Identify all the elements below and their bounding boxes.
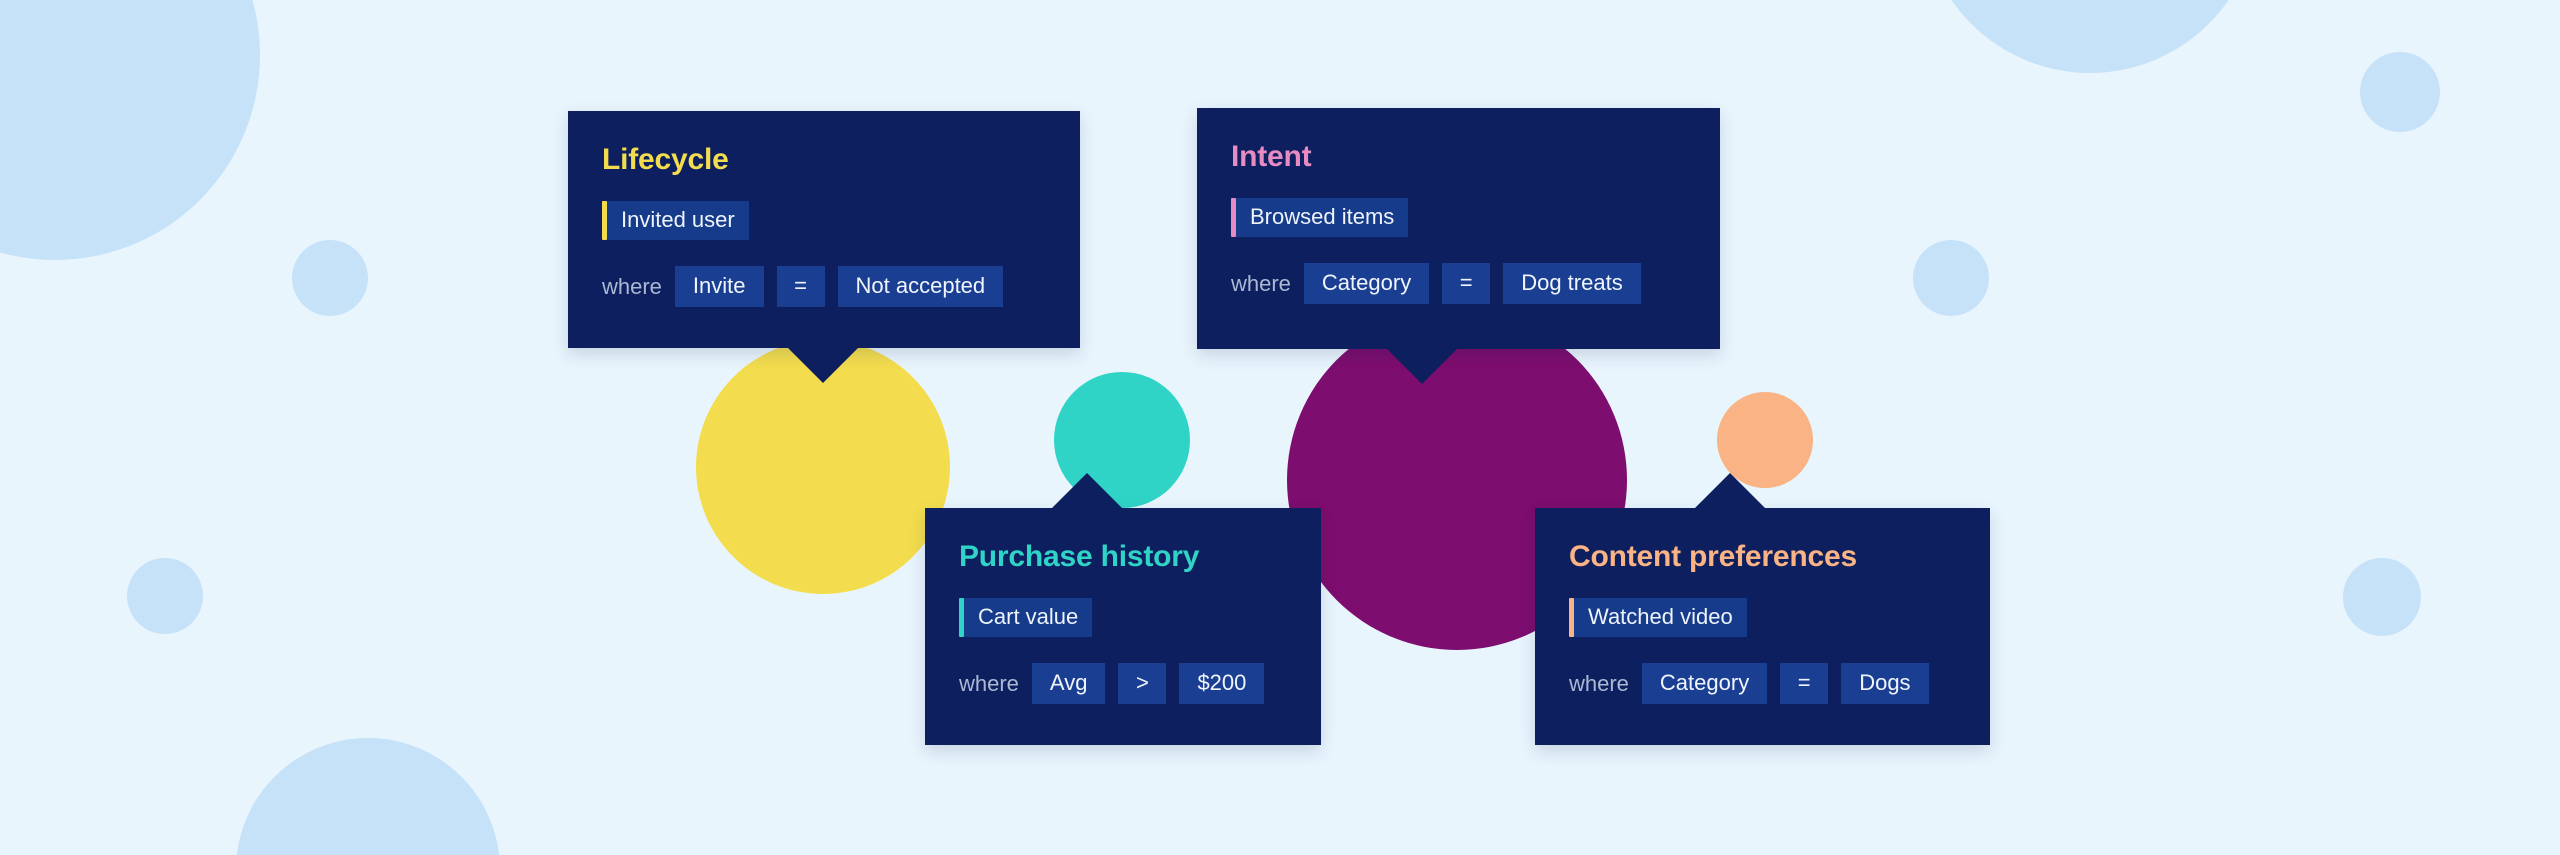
card-title: Intent bbox=[1231, 142, 1686, 172]
card-pointer-down-icon bbox=[1387, 349, 1457, 384]
card-pointer-up-icon bbox=[1695, 473, 1765, 508]
attribute-pill[interactable]: Cart value bbox=[964, 598, 1092, 637]
condition-value-chip[interactable]: Dog treats bbox=[1503, 263, 1641, 304]
attribute-row: Browsed items bbox=[1231, 198, 1686, 237]
condition-card-purchase-history[interactable]: Purchase historyCart valuewhereAvg>$200 bbox=[925, 508, 1321, 745]
where-label: where bbox=[959, 672, 1019, 696]
condition-row: whereInvite=Not accepted bbox=[602, 266, 1046, 307]
condition-value-chip[interactable]: Dogs bbox=[1841, 663, 1928, 704]
attribute-pill[interactable]: Browsed items bbox=[1236, 198, 1408, 237]
condition-value-chip[interactable]: Not accepted bbox=[838, 266, 1004, 307]
condition-field-chip[interactable]: Invite bbox=[675, 266, 764, 307]
condition-field-chip[interactable]: Category bbox=[1304, 263, 1429, 304]
card-title: Purchase history bbox=[959, 542, 1287, 572]
condition-card-lifecycle[interactable]: LifecycleInvited userwhereInvite=Not acc… bbox=[568, 111, 1080, 348]
attribute-pill[interactable]: Invited user bbox=[607, 201, 749, 240]
card-pointer-up-icon bbox=[1052, 473, 1122, 508]
condition-row: whereCategory=Dog treats bbox=[1231, 263, 1686, 304]
segment-builder-canvas: LifecycleInvited userwhereInvite=Not acc… bbox=[0, 0, 2560, 855]
condition-field-chip[interactable]: Avg bbox=[1032, 663, 1106, 704]
where-label: where bbox=[1569, 672, 1629, 696]
condition-operator-chip[interactable]: = bbox=[1442, 263, 1490, 304]
condition-operator-chip[interactable]: = bbox=[1780, 663, 1828, 704]
attribute-row: Watched video bbox=[1569, 598, 1956, 637]
condition-field-chip[interactable]: Category bbox=[1642, 663, 1767, 704]
condition-card-intent[interactable]: IntentBrowsed itemswhereCategory=Dog tre… bbox=[1197, 108, 1720, 349]
card-title: Lifecycle bbox=[602, 145, 1046, 175]
card-title: Content preferences bbox=[1569, 542, 1956, 572]
condition-operator-chip[interactable]: = bbox=[777, 266, 825, 307]
attribute-row: Cart value bbox=[959, 598, 1287, 637]
where-label: where bbox=[602, 275, 662, 299]
condition-value-chip[interactable]: $200 bbox=[1179, 663, 1264, 704]
attribute-row: Invited user bbox=[602, 201, 1046, 240]
attribute-pill[interactable]: Watched video bbox=[1574, 598, 1747, 637]
condition-operator-chip[interactable]: > bbox=[1118, 663, 1166, 704]
condition-row: whereAvg>$200 bbox=[959, 663, 1287, 704]
where-label: where bbox=[1231, 272, 1291, 296]
card-pointer-down-icon bbox=[788, 348, 858, 383]
condition-row: whereCategory=Dogs bbox=[1569, 663, 1956, 704]
condition-card-content-preferences[interactable]: Content preferencesWatched videowhereCat… bbox=[1535, 508, 1990, 745]
condition-card-group: LifecycleInvited userwhereInvite=Not acc… bbox=[0, 0, 2560, 855]
